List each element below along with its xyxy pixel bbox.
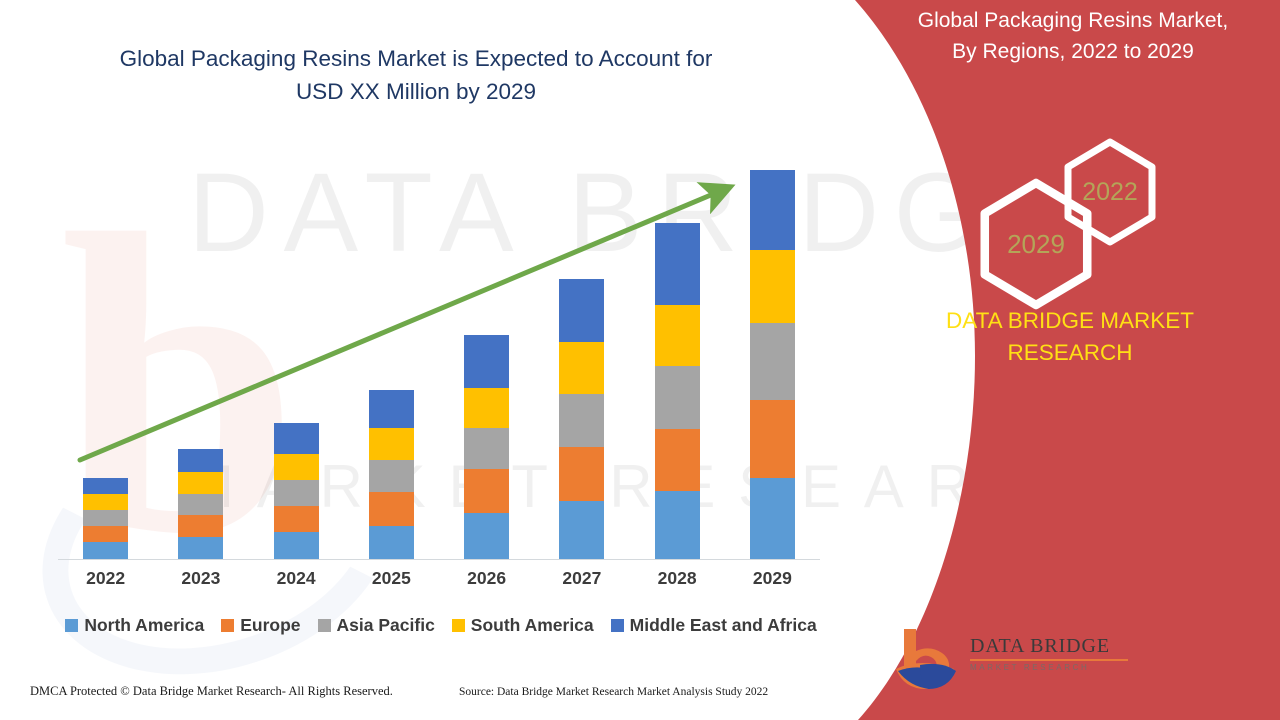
- bar-segment[interactable]: [559, 342, 604, 394]
- bar-segment[interactable]: [274, 480, 319, 506]
- x-axis-labels: 20222023202420252026202720282029: [58, 568, 820, 589]
- slide-canvas: b DATA BRIDGE MARKET RESEARCH Global Pac…: [0, 0, 1280, 720]
- bar-segment[interactable]: [178, 515, 223, 537]
- panel-title: Global Packaging Resins Market, By Regio…: [873, 5, 1273, 67]
- bar-segment[interactable]: [369, 526, 414, 559]
- x-axis-tick-2029: 2029: [725, 568, 820, 589]
- bar-segment[interactable]: [750, 250, 795, 323]
- bar-segment[interactable]: [464, 388, 509, 428]
- stacked-bar[interactable]: [83, 478, 128, 559]
- bar-segment[interactable]: [369, 428, 414, 460]
- bar-slot: [249, 170, 344, 559]
- bar-segment[interactable]: [274, 506, 319, 532]
- stacked-bar-chart: [58, 170, 820, 560]
- legend-label: North America: [84, 615, 204, 636]
- bar-segment[interactable]: [178, 494, 223, 516]
- x-axis-tick-2026: 2026: [439, 568, 534, 589]
- plot-area: [58, 170, 820, 560]
- brand-line-2: RESEARCH: [865, 337, 1275, 369]
- bar-segment[interactable]: [750, 400, 795, 478]
- stacked-bar[interactable]: [559, 279, 604, 559]
- bar-segment[interactable]: [369, 492, 414, 525]
- bar-segment[interactable]: [559, 394, 604, 447]
- x-axis-line: [58, 559, 820, 560]
- bar-segment[interactable]: [83, 526, 128, 543]
- bar-segment[interactable]: [83, 478, 128, 495]
- bar-segment[interactable]: [274, 532, 319, 559]
- bar-segment[interactable]: [274, 454, 319, 480]
- stacked-bar[interactable]: [369, 390, 414, 559]
- legend-swatch-icon: [611, 619, 624, 632]
- source-note: Source: Data Bridge Market Research Mark…: [459, 686, 768, 698]
- bar-segment[interactable]: [369, 460, 414, 492]
- legend-label: Asia Pacific: [337, 615, 435, 636]
- chart-title: Global Packaging Resins Market is Expect…: [36, 42, 796, 108]
- bar-segment[interactable]: [750, 478, 795, 559]
- logo-wordmark: DATA BRIDGE MARKET RESEARCH: [970, 635, 1135, 672]
- x-axis-tick-2028: 2028: [630, 568, 725, 589]
- bar-segment[interactable]: [464, 428, 509, 470]
- bar-segment[interactable]: [178, 472, 223, 494]
- x-axis-tick-2027: 2027: [534, 568, 629, 589]
- badge-start-year: 2022: [1060, 138, 1160, 246]
- logo-tagline: MARKET RESEARCH: [970, 663, 1135, 672]
- company-logo: DATA BRIDGE MARKET RESEARCH: [890, 625, 1135, 695]
- bar-segment[interactable]: [83, 510, 128, 526]
- badge-end-year-label: 2029: [1007, 229, 1065, 260]
- chart-title-line-1: Global Packaging Resins Market is Expect…: [36, 42, 796, 75]
- stacked-bar[interactable]: [274, 423, 319, 559]
- bar-segment[interactable]: [83, 494, 128, 510]
- bar-slot: [630, 170, 725, 559]
- brand-line-1: DATA BRIDGE MARKET: [865, 305, 1275, 337]
- legend-swatch-icon: [221, 619, 234, 632]
- stacked-bar[interactable]: [178, 449, 223, 559]
- badge-start-year-label: 2022: [1082, 178, 1138, 207]
- bar-slot: [153, 170, 248, 559]
- x-axis-tick-2024: 2024: [249, 568, 344, 589]
- bar-slot: [439, 170, 534, 559]
- bar-segment[interactable]: [274, 423, 319, 453]
- logo-divider: [970, 659, 1128, 661]
- logo-name: DATA BRIDGE: [970, 635, 1135, 658]
- bar-segment[interactable]: [178, 449, 223, 472]
- bar-segment[interactable]: [655, 366, 700, 429]
- data-bridge-logo-icon: [890, 625, 970, 693]
- bar-segment[interactable]: [178, 537, 223, 559]
- bar-segment[interactable]: [464, 469, 509, 513]
- x-axis-tick-2022: 2022: [58, 568, 153, 589]
- bar-segment[interactable]: [369, 390, 414, 428]
- bar-segment[interactable]: [655, 491, 700, 559]
- bar-segment[interactable]: [559, 279, 604, 342]
- chart-legend: North AmericaEuropeAsia PacificSouth Ame…: [58, 615, 824, 636]
- bar-group: [58, 170, 820, 559]
- bar-slot: [725, 170, 820, 559]
- panel-title-line-1: Global Packaging Resins Market,: [873, 5, 1273, 36]
- bar-segment[interactable]: [559, 501, 604, 559]
- legend-item[interactable]: North America: [65, 615, 204, 636]
- copyright-notice: DMCA Protected © Data Bridge Market Rese…: [30, 684, 393, 699]
- x-axis-tick-2023: 2023: [153, 568, 248, 589]
- bar-segment[interactable]: [559, 447, 604, 500]
- bar-segment[interactable]: [464, 335, 509, 388]
- legend-item[interactable]: Asia Pacific: [318, 615, 435, 636]
- legend-item[interactable]: Europe: [221, 615, 300, 636]
- bar-slot: [58, 170, 153, 559]
- bar-segment[interactable]: [83, 542, 128, 559]
- brand-name: DATA BRIDGE MARKET RESEARCH: [865, 305, 1275, 369]
- stacked-bar[interactable]: [464, 335, 509, 559]
- x-axis-tick-2025: 2025: [344, 568, 439, 589]
- bar-slot: [534, 170, 629, 559]
- legend-swatch-icon: [65, 619, 78, 632]
- bar-slot: [344, 170, 439, 559]
- legend-label: South America: [471, 615, 594, 636]
- bar-segment[interactable]: [750, 170, 795, 250]
- legend-label: Europe: [240, 615, 300, 636]
- legend-swatch-icon: [318, 619, 331, 632]
- chart-title-line-2: USD XX Million by 2029: [36, 75, 796, 108]
- panel-content: Global Packaging Resins Market, By Regio…: [855, 0, 1280, 720]
- bar-segment[interactable]: [750, 323, 795, 399]
- bar-segment[interactable]: [655, 223, 700, 305]
- bar-segment[interactable]: [655, 429, 700, 492]
- legend-swatch-icon: [452, 619, 465, 632]
- legend-label: Middle East and Africa: [630, 615, 817, 636]
- stacked-bar[interactable]: [655, 223, 700, 559]
- legend-item[interactable]: South America: [452, 615, 594, 636]
- stacked-bar[interactable]: [750, 170, 795, 559]
- bar-segment[interactable]: [655, 305, 700, 366]
- bar-segment[interactable]: [464, 513, 509, 559]
- legend-item[interactable]: Middle East and Africa: [611, 615, 817, 636]
- year-badges: 2029 2022: [955, 138, 1185, 298]
- panel-title-line-2: By Regions, 2022 to 2029: [873, 36, 1273, 67]
- chart-pane: Global Packaging Resins Market is Expect…: [0, 0, 860, 720]
